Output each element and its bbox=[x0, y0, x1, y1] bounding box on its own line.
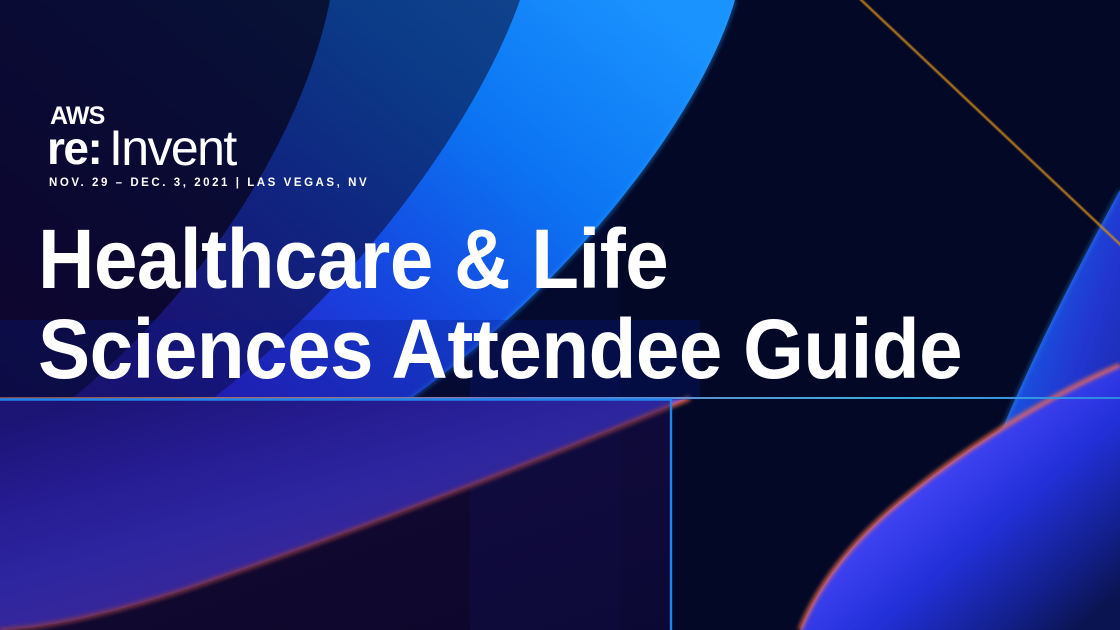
re-wordmark: re: bbox=[47, 125, 101, 171]
page-title: Healthcare & Life Sciences Attendee Guid… bbox=[38, 214, 1098, 394]
page-title-line-1: Healthcare & Life bbox=[38, 214, 1024, 304]
reinvent-logo-lockup: AWS re: Invent bbox=[47, 104, 297, 166]
outlined-rectangle-fill bbox=[0, 399, 672, 630]
event-dates-location: NOV. 29 – DEC. 3, 2021 | LAS VEGAS, NV bbox=[49, 177, 369, 189]
reinvent-title-slide: AWS re: Invent NOV. 29 – DEC. 3, 2021 | … bbox=[0, 0, 1120, 630]
reinvent-logo-block: AWS re: Invent NOV. 29 – DEC. 3, 2021 | … bbox=[47, 104, 369, 189]
invent-wordmark: Invent bbox=[109, 124, 236, 172]
page-title-line-2: Sciences Attendee Guide bbox=[38, 304, 1024, 394]
